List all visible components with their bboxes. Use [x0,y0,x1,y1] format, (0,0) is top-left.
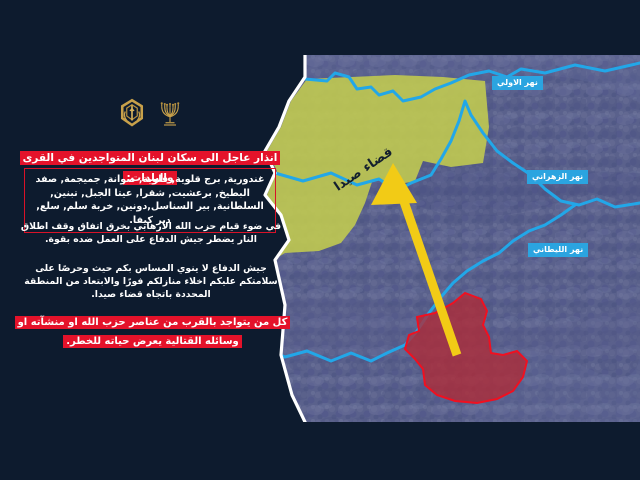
river-label-litani: نهر الليطاني [528,243,588,257]
warning-banner: كل من يتواجد بالقرب من عناصر حزب الله او… [10,312,295,350]
evacuation-warning-graphic: نهر الاولي نهر الزهراني نهر الليطاني قضا… [0,0,640,480]
river-label-awali: نهر الاولي [492,76,543,90]
paragraph-context: في ضوء قيام حزب الله الارهابي بخرق اتفاق… [20,220,282,246]
river-label-zahrani: نهر الزهراني [527,170,588,184]
village-list-text: غندورية, برج قلوية, قلوية, صوانة, جميجمة… [31,173,269,227]
warning-banner-text: كل من يتواجد بالقرب من عناصر حزب الله او… [15,316,291,348]
israel-state-emblem-menorah [157,98,183,128]
emblem-row [0,98,300,128]
idf-emblem-sword-olive-branch [117,98,147,128]
paragraph-instruction: جيش الدفاع لا ينوي المساس بكم حيث وحرصًا… [20,262,282,301]
warning-text-panel: انذار عاجل الى سكان لبنان المتواجدين في … [0,0,310,480]
